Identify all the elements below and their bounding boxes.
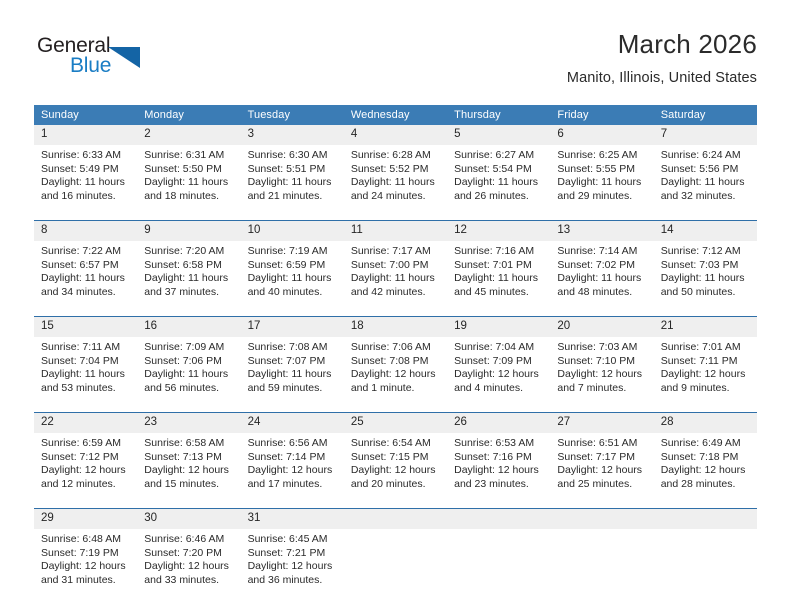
calendar-day-cell[interactable]: 17Sunrise: 7:08 AMSunset: 7:07 PMDayligh…	[241, 317, 344, 412]
weekday-header-wednesday: Wednesday	[344, 105, 447, 125]
day-number: 22	[34, 413, 137, 433]
daylight-text-line2: and 18 minutes.	[144, 190, 234, 204]
calendar-day-cell[interactable]: 15Sunrise: 7:11 AMSunset: 7:04 PMDayligh…	[34, 317, 137, 412]
calendar-day-cell[interactable]: 8Sunrise: 7:22 AMSunset: 6:57 PMDaylight…	[34, 221, 137, 316]
day-number: 8	[34, 221, 137, 241]
day-details: Sunrise: 6:58 AMSunset: 7:13 PMDaylight:…	[137, 433, 240, 508]
daylight-text-line2: and 29 minutes.	[557, 190, 647, 204]
daylight-text-line2: and 48 minutes.	[557, 286, 647, 300]
day-details: Sunrise: 7:20 AMSunset: 6:58 PMDaylight:…	[137, 241, 240, 316]
calendar-day-cell-empty	[344, 509, 447, 604]
sunrise-text: Sunrise: 7:17 AM	[351, 245, 441, 259]
day-details: Sunrise: 6:46 AMSunset: 7:20 PMDaylight:…	[137, 529, 240, 604]
day-details: Sunrise: 6:24 AMSunset: 5:56 PMDaylight:…	[654, 145, 757, 220]
daylight-text-line2: and 17 minutes.	[248, 478, 338, 492]
calendar-day-cell[interactable]: 29Sunrise: 6:48 AMSunset: 7:19 PMDayligh…	[34, 509, 137, 604]
daylight-text-line2: and 59 minutes.	[248, 382, 338, 396]
calendar-day-cell[interactable]: 14Sunrise: 7:12 AMSunset: 7:03 PMDayligh…	[654, 221, 757, 316]
sunset-text: Sunset: 5:54 PM	[454, 163, 544, 177]
day-number	[447, 509, 550, 529]
sunrise-text: Sunrise: 7:14 AM	[557, 245, 647, 259]
day-number: 10	[241, 221, 344, 241]
calendar-day-cell[interactable]: 20Sunrise: 7:03 AMSunset: 7:10 PMDayligh…	[550, 317, 653, 412]
day-details: Sunrise: 6:30 AMSunset: 5:51 PMDaylight:…	[241, 145, 344, 220]
day-details: Sunrise: 6:48 AMSunset: 7:19 PMDaylight:…	[34, 529, 137, 604]
day-number: 28	[654, 413, 757, 433]
daylight-text-line2: and 16 minutes.	[41, 190, 131, 204]
day-details: Sunrise: 6:54 AMSunset: 7:15 PMDaylight:…	[344, 433, 447, 508]
sunset-text: Sunset: 7:07 PM	[248, 355, 338, 369]
daylight-text-line1: Daylight: 11 hours	[144, 368, 234, 382]
day-number: 29	[34, 509, 137, 529]
calendar-day-cell[interactable]: 27Sunrise: 6:51 AMSunset: 7:17 PMDayligh…	[550, 413, 653, 508]
daylight-text-line2: and 26 minutes.	[454, 190, 544, 204]
daylight-text-line1: Daylight: 12 hours	[351, 464, 441, 478]
calendar-day-cell[interactable]: 31Sunrise: 6:45 AMSunset: 7:21 PMDayligh…	[241, 509, 344, 604]
daylight-text-line1: Daylight: 11 hours	[454, 272, 544, 286]
sunset-text: Sunset: 7:03 PM	[661, 259, 751, 273]
sunrise-text: Sunrise: 7:11 AM	[41, 341, 131, 355]
sunset-text: Sunset: 5:52 PM	[351, 163, 441, 177]
daylight-text-line2: and 1 minute.	[351, 382, 441, 396]
sunrise-text: Sunrise: 6:31 AM	[144, 149, 234, 163]
calendar-day-cell[interactable]: 4Sunrise: 6:28 AMSunset: 5:52 PMDaylight…	[344, 125, 447, 220]
sunset-text: Sunset: 7:16 PM	[454, 451, 544, 465]
sunrise-text: Sunrise: 7:16 AM	[454, 245, 544, 259]
daylight-text-line1: Daylight: 11 hours	[557, 176, 647, 190]
daylight-text-line1: Daylight: 11 hours	[351, 176, 441, 190]
daylight-text-line1: Daylight: 11 hours	[661, 176, 751, 190]
calendar-grid: Sunday Monday Tuesday Wednesday Thursday…	[34, 105, 757, 604]
daylight-text-line2: and 37 minutes.	[144, 286, 234, 300]
sunrise-text: Sunrise: 7:19 AM	[248, 245, 338, 259]
calendar-day-cell[interactable]: 11Sunrise: 7:17 AMSunset: 7:00 PMDayligh…	[344, 221, 447, 316]
day-details: Sunrise: 6:59 AMSunset: 7:12 PMDaylight:…	[34, 433, 137, 508]
daylight-text-line2: and 28 minutes.	[661, 478, 751, 492]
daylight-text-line1: Daylight: 11 hours	[351, 272, 441, 286]
sunset-text: Sunset: 7:17 PM	[557, 451, 647, 465]
daylight-text-line1: Daylight: 12 hours	[661, 368, 751, 382]
calendar-day-cell[interactable]: 23Sunrise: 6:58 AMSunset: 7:13 PMDayligh…	[137, 413, 240, 508]
daylight-text-line1: Daylight: 12 hours	[454, 368, 544, 382]
day-details: Sunrise: 7:14 AMSunset: 7:02 PMDaylight:…	[550, 241, 653, 316]
sunrise-text: Sunrise: 6:46 AM	[144, 533, 234, 547]
day-details	[344, 529, 447, 604]
page-subtitle: Manito, Illinois, United States	[567, 68, 757, 88]
day-details: Sunrise: 7:08 AMSunset: 7:07 PMDaylight:…	[241, 337, 344, 412]
daylight-text-line1: Daylight: 11 hours	[248, 368, 338, 382]
calendar-week-row: 8Sunrise: 7:22 AMSunset: 6:57 PMDaylight…	[34, 220, 757, 316]
day-number	[550, 509, 653, 529]
daylight-text-line1: Daylight: 12 hours	[41, 560, 131, 574]
sunset-text: Sunset: 7:13 PM	[144, 451, 234, 465]
day-number: 20	[550, 317, 653, 337]
day-details: Sunrise: 6:31 AMSunset: 5:50 PMDaylight:…	[137, 145, 240, 220]
sunset-text: Sunset: 7:04 PM	[41, 355, 131, 369]
sunrise-text: Sunrise: 7:03 AM	[557, 341, 647, 355]
sunrise-text: Sunrise: 6:53 AM	[454, 437, 544, 451]
page-title: March 2026	[567, 28, 757, 60]
calendar-day-cell[interactable]: 12Sunrise: 7:16 AMSunset: 7:01 PMDayligh…	[447, 221, 550, 316]
sunset-text: Sunset: 7:06 PM	[144, 355, 234, 369]
daylight-text-line2: and 33 minutes.	[144, 574, 234, 588]
sunrise-text: Sunrise: 7:01 AM	[661, 341, 751, 355]
calendar-page: General Blue March 2026 Manito, Illinois…	[0, 0, 792, 612]
daylight-text-line1: Daylight: 12 hours	[41, 464, 131, 478]
day-details: Sunrise: 6:27 AMSunset: 5:54 PMDaylight:…	[447, 145, 550, 220]
weekday-header-thursday: Thursday	[447, 105, 550, 125]
calendar-day-cell[interactable]: 7Sunrise: 6:24 AMSunset: 5:56 PMDaylight…	[654, 125, 757, 220]
sunset-text: Sunset: 7:20 PM	[144, 547, 234, 561]
calendar-day-cell[interactable]: 2Sunrise: 6:31 AMSunset: 5:50 PMDaylight…	[137, 125, 240, 220]
day-number: 4	[344, 125, 447, 145]
day-number: 2	[137, 125, 240, 145]
daylight-text-line2: and 53 minutes.	[41, 382, 131, 396]
day-number: 5	[447, 125, 550, 145]
title-block: March 2026 Manito, Illinois, United Stat…	[567, 28, 757, 88]
day-details: Sunrise: 6:25 AMSunset: 5:55 PMDaylight:…	[550, 145, 653, 220]
daylight-text-line1: Daylight: 12 hours	[454, 464, 544, 478]
calendar-day-cell[interactable]: 19Sunrise: 7:04 AMSunset: 7:09 PMDayligh…	[447, 317, 550, 412]
day-details: Sunrise: 6:51 AMSunset: 7:17 PMDaylight:…	[550, 433, 653, 508]
sunrise-text: Sunrise: 7:20 AM	[144, 245, 234, 259]
calendar-week-row: 15Sunrise: 7:11 AMSunset: 7:04 PMDayligh…	[34, 316, 757, 412]
daylight-text-line2: and 36 minutes.	[248, 574, 338, 588]
sunrise-text: Sunrise: 7:12 AM	[661, 245, 751, 259]
day-details: Sunrise: 6:33 AMSunset: 5:49 PMDaylight:…	[34, 145, 137, 220]
sunrise-text: Sunrise: 6:24 AM	[661, 149, 751, 163]
day-number: 7	[654, 125, 757, 145]
calendar-day-cell[interactable]: 22Sunrise: 6:59 AMSunset: 7:12 PMDayligh…	[34, 413, 137, 508]
daylight-text-line1: Daylight: 12 hours	[557, 368, 647, 382]
daylight-text-line1: Daylight: 12 hours	[557, 464, 647, 478]
calendar-week-row: 22Sunrise: 6:59 AMSunset: 7:12 PMDayligh…	[34, 412, 757, 508]
sunrise-text: Sunrise: 6:48 AM	[41, 533, 131, 547]
day-number: 21	[654, 317, 757, 337]
day-details: Sunrise: 7:19 AMSunset: 6:59 PMDaylight:…	[241, 241, 344, 316]
daylight-text-line2: and 50 minutes.	[661, 286, 751, 300]
daylight-text-line1: Daylight: 11 hours	[41, 272, 131, 286]
sunrise-text: Sunrise: 6:27 AM	[454, 149, 544, 163]
calendar-day-cell[interactable]: 9Sunrise: 7:20 AMSunset: 6:58 PMDaylight…	[137, 221, 240, 316]
sunset-text: Sunset: 7:09 PM	[454, 355, 544, 369]
day-number	[344, 509, 447, 529]
sunset-text: Sunset: 6:57 PM	[41, 259, 131, 273]
day-details: Sunrise: 7:06 AMSunset: 7:08 PMDaylight:…	[344, 337, 447, 412]
calendar-day-cell-empty	[447, 509, 550, 604]
calendar-weeks: 1Sunrise: 6:33 AMSunset: 5:49 PMDaylight…	[34, 125, 757, 604]
sunset-text: Sunset: 7:11 PM	[661, 355, 751, 369]
daylight-text-line1: Daylight: 11 hours	[144, 272, 234, 286]
day-number: 30	[137, 509, 240, 529]
day-details: Sunrise: 7:22 AMSunset: 6:57 PMDaylight:…	[34, 241, 137, 316]
sunrise-text: Sunrise: 6:59 AM	[41, 437, 131, 451]
day-details: Sunrise: 7:01 AMSunset: 7:11 PMDaylight:…	[654, 337, 757, 412]
weekday-header-row: Sunday Monday Tuesday Wednesday Thursday…	[34, 105, 757, 125]
daylight-text-line2: and 45 minutes.	[454, 286, 544, 300]
daylight-text-line1: Daylight: 11 hours	[661, 272, 751, 286]
sunrise-text: Sunrise: 7:08 AM	[248, 341, 338, 355]
daylight-text-line1: Daylight: 12 hours	[661, 464, 751, 478]
calendar-day-cell[interactable]: 10Sunrise: 7:19 AMSunset: 6:59 PMDayligh…	[241, 221, 344, 316]
day-number: 16	[137, 317, 240, 337]
weekday-header-tuesday: Tuesday	[241, 105, 344, 125]
daylight-text-line1: Daylight: 12 hours	[144, 560, 234, 574]
daylight-text-line1: Daylight: 11 hours	[248, 176, 338, 190]
day-number: 17	[241, 317, 344, 337]
day-number: 27	[550, 413, 653, 433]
page-header: General Blue March 2026 Manito, Illinois…	[34, 28, 757, 96]
sunset-text: Sunset: 7:18 PM	[661, 451, 751, 465]
daylight-text-line2: and 40 minutes.	[248, 286, 338, 300]
daylight-text-line1: Daylight: 12 hours	[144, 464, 234, 478]
sunset-text: Sunset: 7:00 PM	[351, 259, 441, 273]
day-number: 31	[241, 509, 344, 529]
sunrise-text: Sunrise: 7:09 AM	[144, 341, 234, 355]
calendar-week-row: 1Sunrise: 6:33 AMSunset: 5:49 PMDaylight…	[34, 125, 757, 220]
day-number: 23	[137, 413, 240, 433]
day-details	[447, 529, 550, 604]
daylight-text-line1: Daylight: 11 hours	[41, 176, 131, 190]
sunset-text: Sunset: 7:02 PM	[557, 259, 647, 273]
day-details: Sunrise: 6:49 AMSunset: 7:18 PMDaylight:…	[654, 433, 757, 508]
day-number: 11	[344, 221, 447, 241]
sunrise-text: Sunrise: 6:58 AM	[144, 437, 234, 451]
calendar-day-cell[interactable]: 25Sunrise: 6:54 AMSunset: 7:15 PMDayligh…	[344, 413, 447, 508]
day-number: 1	[34, 125, 137, 145]
day-details: Sunrise: 6:45 AMSunset: 7:21 PMDaylight:…	[241, 529, 344, 604]
weekday-header-sunday: Sunday	[34, 105, 137, 125]
day-details: Sunrise: 7:03 AMSunset: 7:10 PMDaylight:…	[550, 337, 653, 412]
sunrise-text: Sunrise: 6:54 AM	[351, 437, 441, 451]
daylight-text-line2: and 9 minutes.	[661, 382, 751, 396]
daylight-text-line1: Daylight: 12 hours	[351, 368, 441, 382]
daylight-text-line1: Daylight: 11 hours	[454, 176, 544, 190]
calendar-day-cell[interactable]: 26Sunrise: 6:53 AMSunset: 7:16 PMDayligh…	[447, 413, 550, 508]
day-number: 18	[344, 317, 447, 337]
sunrise-text: Sunrise: 7:22 AM	[41, 245, 131, 259]
sunrise-text: Sunrise: 6:25 AM	[557, 149, 647, 163]
daylight-text-line2: and 7 minutes.	[557, 382, 647, 396]
daylight-text-line1: Daylight: 11 hours	[557, 272, 647, 286]
calendar-day-cell[interactable]: 18Sunrise: 7:06 AMSunset: 7:08 PMDayligh…	[344, 317, 447, 412]
daylight-text-line2: and 21 minutes.	[248, 190, 338, 204]
day-number: 12	[447, 221, 550, 241]
sunset-text: Sunset: 7:15 PM	[351, 451, 441, 465]
calendar-day-cell[interactable]: 16Sunrise: 7:09 AMSunset: 7:06 PMDayligh…	[137, 317, 240, 412]
sunset-text: Sunset: 5:51 PM	[248, 163, 338, 177]
day-details: Sunrise: 7:04 AMSunset: 7:09 PMDaylight:…	[447, 337, 550, 412]
calendar-day-cell[interactable]: 30Sunrise: 6:46 AMSunset: 7:20 PMDayligh…	[137, 509, 240, 604]
daylight-text-line2: and 25 minutes.	[557, 478, 647, 492]
calendar-day-cell[interactable]: 13Sunrise: 7:14 AMSunset: 7:02 PMDayligh…	[550, 221, 653, 316]
sunrise-text: Sunrise: 6:45 AM	[248, 533, 338, 547]
sunset-text: Sunset: 7:12 PM	[41, 451, 131, 465]
day-number: 9	[137, 221, 240, 241]
day-details: Sunrise: 7:16 AMSunset: 7:01 PMDaylight:…	[447, 241, 550, 316]
day-number: 24	[241, 413, 344, 433]
sunset-text: Sunset: 7:10 PM	[557, 355, 647, 369]
sunset-text: Sunset: 7:08 PM	[351, 355, 441, 369]
calendar-day-cell-empty	[550, 509, 653, 604]
sunrise-text: Sunrise: 6:56 AM	[248, 437, 338, 451]
sunset-text: Sunset: 5:50 PM	[144, 163, 234, 177]
day-number: 25	[344, 413, 447, 433]
sunset-text: Sunset: 6:59 PM	[248, 259, 338, 273]
day-details: Sunrise: 6:53 AMSunset: 7:16 PMDaylight:…	[447, 433, 550, 508]
sunset-text: Sunset: 6:58 PM	[144, 259, 234, 273]
weekday-header-friday: Friday	[550, 105, 653, 125]
calendar-day-cell-empty	[654, 509, 757, 604]
daylight-text-line1: Daylight: 11 hours	[41, 368, 131, 382]
sunset-text: Sunset: 5:49 PM	[41, 163, 131, 177]
day-details	[654, 529, 757, 604]
calendar-day-cell[interactable]: 6Sunrise: 6:25 AMSunset: 5:55 PMDaylight…	[550, 125, 653, 220]
daylight-text-line2: and 31 minutes.	[41, 574, 131, 588]
day-number: 19	[447, 317, 550, 337]
day-details	[550, 529, 653, 604]
day-details: Sunrise: 7:11 AMSunset: 7:04 PMDaylight:…	[34, 337, 137, 412]
daylight-text-line2: and 4 minutes.	[454, 382, 544, 396]
weekday-header-monday: Monday	[137, 105, 240, 125]
daylight-text-line1: Daylight: 11 hours	[144, 176, 234, 190]
sunset-text: Sunset: 7:19 PM	[41, 547, 131, 561]
logo-text-blue: Blue	[70, 54, 111, 78]
day-number: 6	[550, 125, 653, 145]
sunrise-text: Sunrise: 6:28 AM	[351, 149, 441, 163]
daylight-text-line2: and 56 minutes.	[144, 382, 234, 396]
day-details: Sunrise: 7:09 AMSunset: 7:06 PMDaylight:…	[137, 337, 240, 412]
daylight-text-line1: Daylight: 11 hours	[248, 272, 338, 286]
sunset-text: Sunset: 7:21 PM	[248, 547, 338, 561]
daylight-text-line2: and 23 minutes.	[454, 478, 544, 492]
day-number: 14	[654, 221, 757, 241]
day-number	[654, 509, 757, 529]
calendar-day-cell[interactable]: 21Sunrise: 7:01 AMSunset: 7:11 PMDayligh…	[654, 317, 757, 412]
day-details: Sunrise: 7:12 AMSunset: 7:03 PMDaylight:…	[654, 241, 757, 316]
daylight-text-line2: and 42 minutes.	[351, 286, 441, 300]
day-details: Sunrise: 6:56 AMSunset: 7:14 PMDaylight:…	[241, 433, 344, 508]
daylight-text-line2: and 20 minutes.	[351, 478, 441, 492]
sunset-text: Sunset: 5:56 PM	[661, 163, 751, 177]
daylight-text-line2: and 12 minutes.	[41, 478, 131, 492]
calendar-day-cell[interactable]: 1Sunrise: 6:33 AMSunset: 5:49 PMDaylight…	[34, 125, 137, 220]
daylight-text-line1: Daylight: 12 hours	[248, 560, 338, 574]
sunset-text: Sunset: 7:14 PM	[248, 451, 338, 465]
calendar-day-cell[interactable]: 28Sunrise: 6:49 AMSunset: 7:18 PMDayligh…	[654, 413, 757, 508]
calendar-day-cell[interactable]: 3Sunrise: 6:30 AMSunset: 5:51 PMDaylight…	[241, 125, 344, 220]
sunrise-text: Sunrise: 6:33 AM	[41, 149, 131, 163]
daylight-text-line2: and 32 minutes.	[661, 190, 751, 204]
sunset-text: Sunset: 5:55 PM	[557, 163, 647, 177]
logo-triangle-icon	[108, 47, 140, 68]
sunset-text: Sunset: 7:01 PM	[454, 259, 544, 273]
day-number: 26	[447, 413, 550, 433]
daylight-text-line2: and 15 minutes.	[144, 478, 234, 492]
calendar-week-row: 29Sunrise: 6:48 AMSunset: 7:19 PMDayligh…	[34, 508, 757, 604]
general-blue-logo[interactable]: General Blue	[34, 34, 214, 90]
day-details: Sunrise: 7:17 AMSunset: 7:00 PMDaylight:…	[344, 241, 447, 316]
sunrise-text: Sunrise: 7:06 AM	[351, 341, 441, 355]
day-number: 13	[550, 221, 653, 241]
daylight-text-line2: and 34 minutes.	[41, 286, 131, 300]
day-number: 3	[241, 125, 344, 145]
sunrise-text: Sunrise: 6:51 AM	[557, 437, 647, 451]
sunrise-text: Sunrise: 7:04 AM	[454, 341, 544, 355]
day-details: Sunrise: 6:28 AMSunset: 5:52 PMDaylight:…	[344, 145, 447, 220]
weekday-header-saturday: Saturday	[654, 105, 757, 125]
day-number: 15	[34, 317, 137, 337]
daylight-text-line2: and 24 minutes.	[351, 190, 441, 204]
calendar-day-cell[interactable]: 5Sunrise: 6:27 AMSunset: 5:54 PMDaylight…	[447, 125, 550, 220]
calendar-day-cell[interactable]: 24Sunrise: 6:56 AMSunset: 7:14 PMDayligh…	[241, 413, 344, 508]
sunrise-text: Sunrise: 6:49 AM	[661, 437, 751, 451]
daylight-text-line1: Daylight: 12 hours	[248, 464, 338, 478]
sunrise-text: Sunrise: 6:30 AM	[248, 149, 338, 163]
